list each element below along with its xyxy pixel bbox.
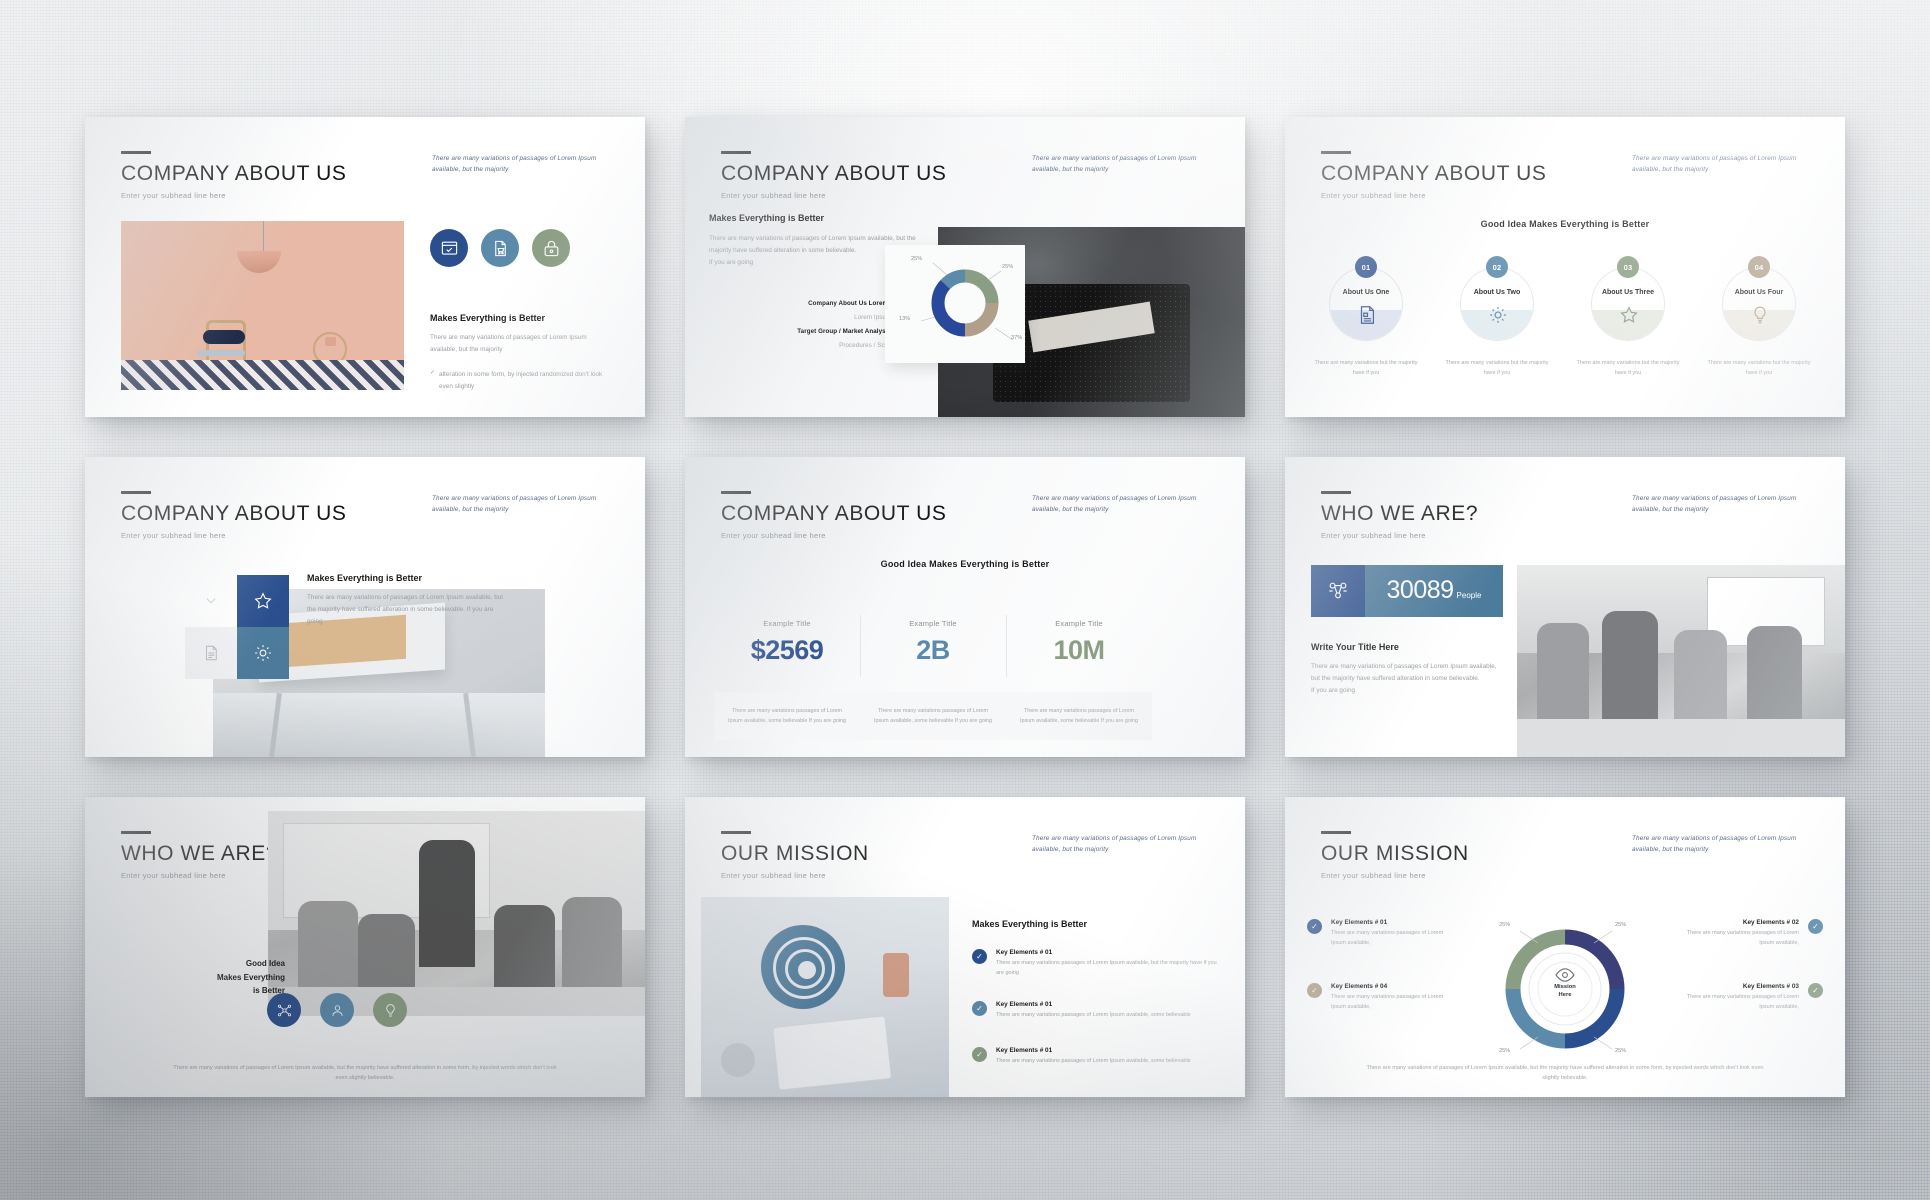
- title-rule: [1321, 831, 1351, 834]
- key-element-item[interactable]: ✓ Key Elements # 04 There are many varia…: [1307, 983, 1457, 1013]
- lightbulb-icon: [1749, 304, 1771, 326]
- key-element-item[interactable]: ✓ Key Elements # 01 There are many varia…: [972, 949, 1222, 979]
- donut-chart: [885, 245, 1025, 363]
- interior-photo: [121, 221, 404, 390]
- slide-4-company-about-us-tiles[interactable]: COMPANY ABOUT US Enter your subhead line…: [85, 457, 645, 757]
- slide-4-body: Makes Everything is Better There are man…: [307, 573, 507, 628]
- user-icon[interactable]: [320, 993, 354, 1027]
- people-counter: 30089 People: [1311, 565, 1503, 617]
- donut-chart-card: 25% 25% 37% 13%: [885, 245, 1025, 363]
- stat-caption: Example Title: [860, 619, 1006, 628]
- star-icon[interactable]: [237, 575, 289, 627]
- key-element-item[interactable]: ✓ Key Elements # 03 There are many varia…: [1673, 983, 1823, 1013]
- slide-5-company-about-us-stats[interactable]: COMPANY ABOUT US Enter your subhead line…: [685, 457, 1245, 757]
- stat-desc-box: There are many variations passages of Lo…: [1006, 692, 1152, 740]
- stat-value: 10M: [1006, 635, 1152, 666]
- title-rule: [121, 491, 151, 494]
- slide-7-header: WHO WE ARE? Enter your subhead line here: [121, 831, 278, 880]
- slide-5-header: COMPANY ABOUT US Enter your subhead line…: [721, 491, 947, 540]
- page-title: COMPANY ABOUT US: [721, 503, 947, 524]
- network-people-icon: [1311, 565, 1365, 617]
- body-title: Makes Everything is Better: [709, 213, 939, 223]
- slide-8-our-mission[interactable]: OUR MISSION Enter your subhead line here…: [685, 797, 1245, 1097]
- key-desc: There are many variations passages of Lo…: [996, 959, 1222, 979]
- gear-icon: [1487, 304, 1509, 326]
- page-title: COMPANY ABOUT US: [721, 163, 947, 184]
- page-subhead: Enter your subhead line here: [721, 191, 947, 200]
- key-label: Key Elements # 01: [996, 1047, 1191, 1054]
- slide-7-icon-row: [267, 993, 407, 1027]
- title-rule: [721, 151, 751, 154]
- center-label-line2: Here: [1550, 991, 1580, 999]
- stat-desc: There are many variations passages of Lo…: [1018, 706, 1140, 726]
- step-desc: There are many variations but the majori…: [1313, 359, 1419, 379]
- slide-1-body: Makes Everything is Better There are man…: [430, 313, 610, 392]
- step-circle: [1591, 267, 1665, 341]
- body-title: Makes Everything is Better: [307, 573, 507, 583]
- lightbulb-icon[interactable]: [373, 993, 407, 1027]
- slide-7-who-we-are[interactable]: WHO WE ARE? Enter your subhead line here…: [85, 797, 645, 1097]
- key-desc: There are many variations passages of Lo…: [1331, 993, 1457, 1013]
- center-label-line1: Mission: [1550, 983, 1580, 991]
- foot-note: There are many variations of passages of…: [1285, 1063, 1845, 1083]
- header-note: There are many variations of passages of…: [1632, 493, 1817, 515]
- page-subhead: Enter your subhead line here: [1321, 871, 1469, 880]
- team-photo: [1517, 565, 1845, 757]
- slide-9-our-mission-donut[interactable]: OUR MISSION Enter your subhead line here…: [1285, 797, 1845, 1097]
- mission-donut-chart: Mission Here 25% 25% 25% 25%: [1480, 909, 1650, 1069]
- step-badge: 03: [1617, 256, 1639, 278]
- whiteboard-team-photo: [268, 811, 645, 1016]
- check-icon: ✓: [1307, 983, 1322, 998]
- key-label: Key Elements # 01: [996, 949, 1222, 956]
- key-desc: There are many variations passages of Lo…: [996, 1011, 1191, 1021]
- donut-value-label: 25%: [1615, 1048, 1626, 1054]
- page-subhead: Enter your subhead line here: [721, 871, 869, 880]
- slide-4-header: COMPANY ABOUT US Enter your subhead line…: [121, 491, 347, 540]
- page-subhead: Enter your subhead line here: [121, 871, 278, 880]
- page-subhead: Enter your subhead line here: [121, 191, 347, 200]
- page-title: COMPANY ABOUT US: [121, 503, 347, 524]
- check-icon: ✓: [1307, 919, 1322, 934]
- key-element-item[interactable]: ✓ Key Elements # 01 There are many varia…: [972, 1001, 1222, 1021]
- slide-6-body: Write Your Title Here There are many var…: [1311, 642, 1506, 697]
- stat-caption: Example Title: [1006, 619, 1152, 628]
- title-rule: [1321, 491, 1351, 494]
- key-desc: There are many variations passages of Lo…: [1673, 929, 1799, 949]
- stat-caption: Example Title: [714, 619, 860, 628]
- step-badge: 01: [1355, 256, 1377, 278]
- lock-icon[interactable]: [532, 229, 570, 267]
- stat-desc: There are many variations passages of Lo…: [872, 706, 994, 726]
- check-icon: ✓: [972, 1001, 987, 1016]
- slide-3-about-us-steps[interactable]: COMPANY ABOUT US Enter your subhead line…: [1285, 117, 1845, 417]
- step-label: About Us Two: [1442, 289, 1552, 296]
- gear-icon[interactable]: [237, 627, 289, 679]
- page-title: OUR MISSION: [721, 843, 869, 864]
- counter-unit: People: [1457, 591, 1482, 600]
- star-icon: [1618, 304, 1640, 326]
- donut-value-label: 25%: [1615, 922, 1626, 928]
- document-icon: [1356, 304, 1378, 326]
- slide-1-company-about-us[interactable]: COMPANY ABOUT US Enter your subhead line…: [85, 117, 645, 417]
- stat-column[interactable]: Example Title 2B: [860, 619, 1006, 666]
- check-icon: ✓: [1808, 983, 1823, 998]
- key-element-item[interactable]: ✓ Key Elements # 01 There are many varia…: [972, 1047, 1222, 1067]
- step-desc: There are many variations but the majori…: [1575, 359, 1681, 379]
- step-circle: [1460, 267, 1534, 341]
- key-desc: There are many variations passages of Lo…: [1331, 929, 1457, 949]
- step-desc: There are many variations but the majori…: [1444, 359, 1550, 379]
- key-desc: There are many variations passages of Lo…: [996, 1057, 1191, 1067]
- check-text: alteration in some form, by injected ran…: [439, 369, 610, 393]
- body-text: There are many variations of passages of…: [1311, 661, 1506, 697]
- foot-note: There are many variations of passages of…: [85, 1063, 645, 1083]
- slide-6-who-we-are-counter[interactable]: WHO WE ARE? Enter your subhead line here…: [1285, 457, 1845, 757]
- step-label: About Us One: [1311, 289, 1421, 296]
- invoice-cart-icon[interactable]: [481, 229, 519, 267]
- donut-value-label: 25%: [1499, 1048, 1510, 1054]
- step-badge: 02: [1486, 256, 1508, 278]
- slide-1-icon-row: [430, 229, 570, 267]
- donut-value-label: 13%: [899, 316, 910, 322]
- header-note: There are many variations of passages of…: [1032, 493, 1217, 515]
- stat-desc-box: There are many variations passages of Lo…: [860, 692, 1006, 740]
- page-subhead: Enter your subhead line here: [121, 531, 347, 540]
- header-note: There are many variations of passages of…: [1632, 153, 1817, 175]
- key-label: Key Elements # 03: [1673, 983, 1799, 990]
- counter-value: 30089: [1387, 576, 1454, 605]
- donut-value-label: 37%: [1011, 335, 1022, 341]
- header-note: There are many variations of passages of…: [432, 153, 617, 175]
- browser-check-icon[interactable]: [430, 229, 468, 267]
- body-title: Makes Everything is Better: [972, 919, 1087, 929]
- body-title: Makes Everything is Better: [430, 313, 610, 323]
- body-title: Write Your Title Here: [1311, 642, 1506, 652]
- document-icon[interactable]: [185, 627, 237, 679]
- step-label: About Us Three: [1573, 289, 1683, 296]
- donut-value-label: 25%: [911, 256, 922, 262]
- donut-value-label: 25%: [1002, 264, 1013, 270]
- counter-value-box: 30089 People: [1365, 565, 1503, 617]
- key-desc: There are many variations passages of Lo…: [1673, 993, 1799, 1013]
- page-title: COMPANY ABOUT US: [1321, 163, 1547, 184]
- stat-column[interactable]: Example Title 10M: [1006, 619, 1152, 666]
- key-element-item[interactable]: ✓ Key Elements # 01 There are many varia…: [1307, 919, 1457, 949]
- check-icon: ✓: [972, 1047, 987, 1062]
- title-rule: [121, 831, 151, 834]
- header-note: There are many variations of passages of…: [1032, 833, 1217, 855]
- slide-2-header: COMPANY ABOUT US Enter your subhead line…: [721, 151, 947, 200]
- title-rule: [121, 151, 151, 154]
- slide-1-header: COMPANY ABOUT US Enter your subhead line…: [121, 151, 347, 200]
- header-note: There are many variations of passages of…: [1032, 153, 1217, 175]
- network-icon[interactable]: [267, 993, 301, 1027]
- stat-desc-box: There are many variations passages of Lo…: [714, 692, 860, 740]
- body-text: There are many variations of passages of…: [430, 332, 610, 356]
- check-icon: ✓: [972, 949, 987, 964]
- stat-value: $2569: [714, 635, 860, 666]
- slide-6-header: WHO WE ARE? Enter your subhead line here: [1321, 491, 1478, 540]
- step-desc: There are many variations but the majori…: [1706, 359, 1812, 379]
- key-label: Key Elements # 02: [1673, 919, 1799, 926]
- page-title: OUR MISSION: [1321, 843, 1469, 864]
- step-label: About Us Four: [1704, 289, 1814, 296]
- page-title: WHO WE ARE?: [1321, 503, 1478, 524]
- slide-2-company-about-us-chart[interactable]: COMPANY ABOUT US Enter your subhead line…: [685, 117, 1245, 417]
- tagline: Good Idea Makes Everything is Better: [125, 957, 285, 998]
- stat-column[interactable]: Example Title $2569: [714, 619, 860, 666]
- donut-value-label: 25%: [1499, 922, 1510, 928]
- page-title: COMPANY ABOUT US: [121, 163, 347, 184]
- center-title: Good Idea Makes Everything is Better: [685, 559, 1245, 569]
- page-subhead: Enter your subhead line here: [1321, 531, 1478, 540]
- check-icon: ✓: [1808, 919, 1823, 934]
- check-icon: ✓: [430, 369, 435, 393]
- slide-9-header: OUR MISSION Enter your subhead line here: [1321, 831, 1469, 880]
- title-rule: [1321, 151, 1351, 154]
- body-text: There are many variations of passages of…: [307, 592, 507, 628]
- slide-8-header: OUR MISSION Enter your subhead line here: [721, 831, 869, 880]
- header-note: There are many variations of passages of…: [432, 493, 617, 515]
- stat-value: 2B: [860, 635, 1006, 666]
- page-subhead: Enter your subhead line here: [721, 531, 947, 540]
- slide-3-header: COMPANY ABOUT US Enter your subhead line…: [1321, 151, 1547, 200]
- chevron-down-icon[interactable]: [185, 575, 237, 627]
- key-label: Key Elements # 04: [1331, 983, 1457, 990]
- stat-desc: There are many variations passages of Lo…: [726, 706, 848, 726]
- header-note: There are many variations of passages of…: [1632, 833, 1817, 855]
- page-title: WHO WE ARE?: [121, 843, 278, 864]
- title-rule: [721, 831, 751, 834]
- key-label: Key Elements # 01: [1331, 919, 1457, 926]
- key-label: Key Elements # 01: [996, 1001, 1191, 1008]
- title-rule: [721, 491, 751, 494]
- center-title: Good Idea Makes Everything is Better: [1285, 219, 1845, 229]
- key-element-item[interactable]: ✓ Key Elements # 02 There are many varia…: [1673, 919, 1823, 949]
- page-subhead: Enter your subhead line here: [1321, 191, 1547, 200]
- step-circle: [1329, 267, 1403, 341]
- slide-gallery: COMPANY ABOUT US Enter your subhead line…: [0, 0, 1930, 1200]
- mission-photo: [701, 897, 949, 1097]
- step-badge: 04: [1748, 256, 1770, 278]
- tile-grid: [185, 575, 289, 679]
- step-circle: [1722, 267, 1796, 341]
